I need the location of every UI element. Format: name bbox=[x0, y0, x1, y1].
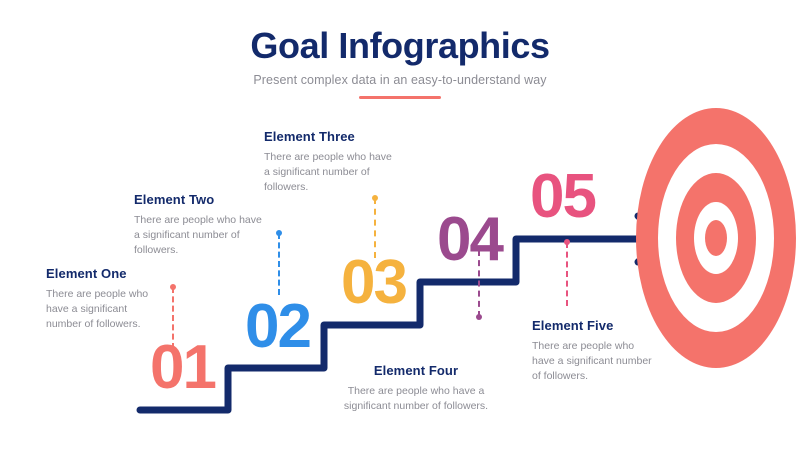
element-block-one: Element One There are people who have a … bbox=[46, 266, 158, 333]
element-block-five: Element Five There are people who have a… bbox=[532, 318, 652, 385]
element-five-body: There are people who have a significant … bbox=[532, 339, 652, 385]
connector-dot-04 bbox=[476, 314, 482, 320]
element-block-two: Element Two There are people who have a … bbox=[134, 192, 269, 259]
element-five-title: Element Five bbox=[532, 318, 652, 333]
connector-dash-03 bbox=[374, 198, 376, 258]
connector-line-02 bbox=[278, 233, 280, 295]
infographic-slide: Goal Infographics Present complex data i… bbox=[0, 0, 800, 450]
target-bullseye-icon bbox=[636, 108, 796, 368]
connector-line-01 bbox=[172, 287, 174, 349]
element-three-body: There are people who have a significant … bbox=[264, 150, 396, 196]
step-number-04: 04 bbox=[437, 209, 502, 271]
page-subtitle: Present complex data in an easy-to-under… bbox=[0, 73, 800, 87]
step-number-02: 02 bbox=[245, 296, 310, 358]
title-underline-rule bbox=[359, 96, 441, 99]
target-bullseye-center bbox=[705, 220, 727, 256]
connector-dot-03 bbox=[372, 195, 378, 201]
step-number-01: 01 bbox=[150, 337, 215, 399]
element-three-title: Element Three bbox=[264, 129, 396, 144]
element-four-title: Element Four bbox=[326, 363, 506, 378]
header: Goal Infographics Present complex data i… bbox=[0, 26, 800, 99]
connector-dash-01 bbox=[172, 287, 174, 349]
connector-dot-01 bbox=[170, 284, 176, 290]
connector-dash-05 bbox=[566, 242, 568, 306]
connector-dot-02 bbox=[276, 230, 282, 236]
connector-dot-05 bbox=[564, 239, 570, 245]
element-two-body: There are people who have a significant … bbox=[134, 213, 269, 259]
element-two-title: Element Two bbox=[134, 192, 269, 207]
element-one-body: There are people who have a significant … bbox=[46, 287, 158, 333]
connector-dash-04 bbox=[478, 250, 480, 317]
element-one-title: Element One bbox=[46, 266, 158, 281]
connector-dash-02 bbox=[278, 233, 280, 295]
connector-line-03 bbox=[374, 198, 376, 258]
element-block-four: Element Four There are people who have a… bbox=[326, 363, 506, 414]
element-block-three: Element Three There are people who have … bbox=[264, 129, 396, 196]
step-number-05: 05 bbox=[530, 166, 595, 228]
step-number-03: 03 bbox=[341, 252, 406, 314]
connector-line-05 bbox=[566, 242, 568, 306]
element-four-body: There are people who have a significant … bbox=[326, 384, 506, 414]
page-title: Goal Infographics bbox=[0, 26, 800, 66]
connector-line-04 bbox=[478, 250, 480, 317]
